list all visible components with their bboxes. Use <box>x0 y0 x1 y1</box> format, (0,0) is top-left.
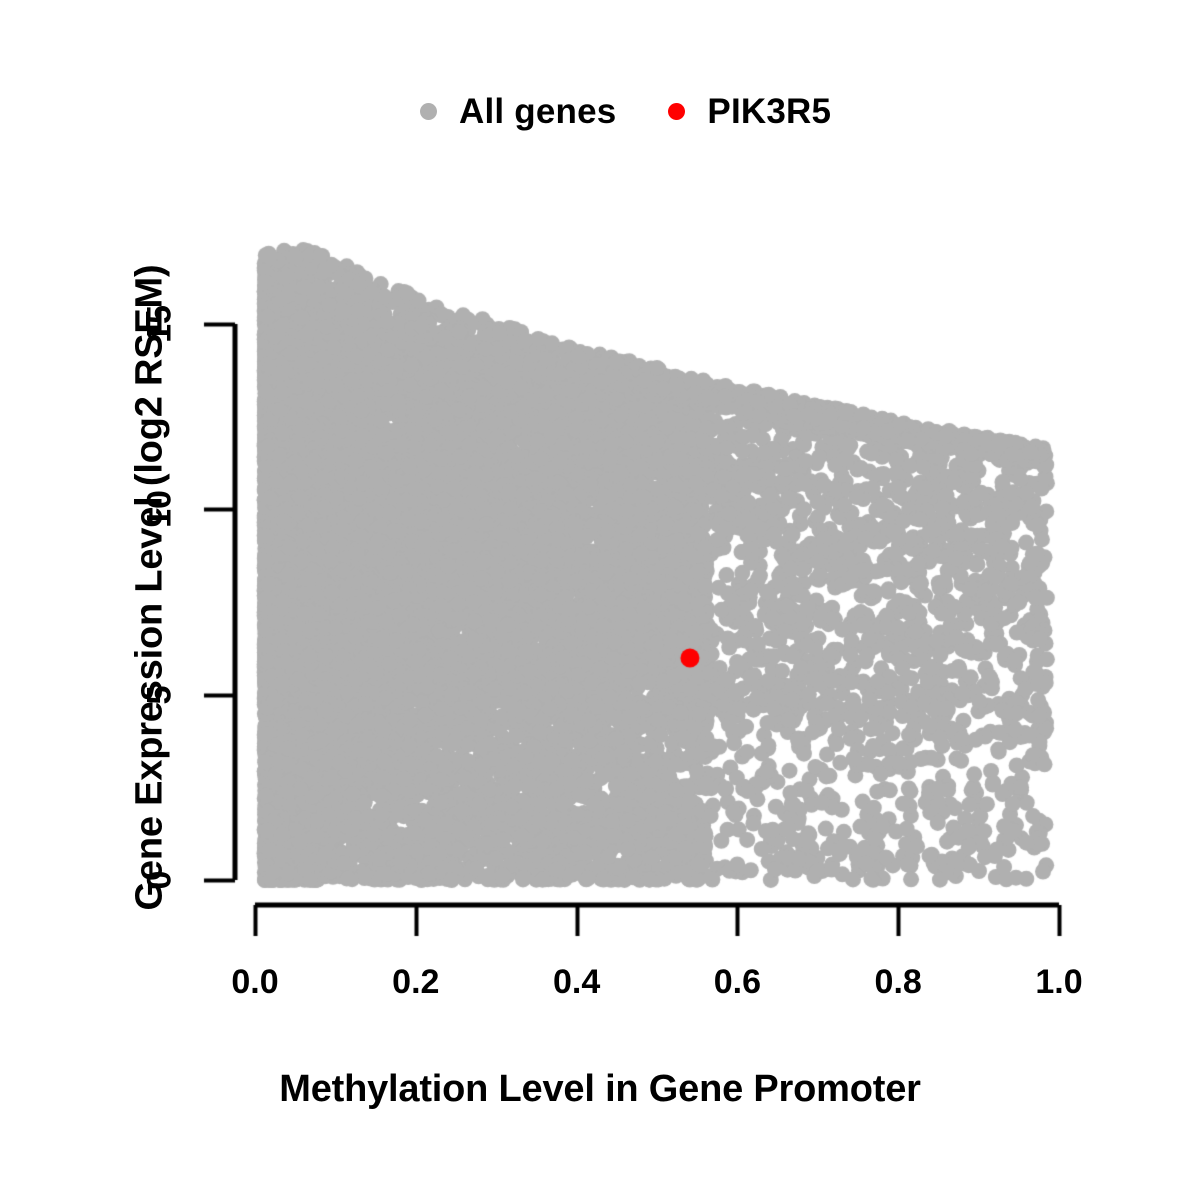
legend-marker-pik3r5-icon <box>668 103 685 120</box>
scatter-plot-canvas <box>0 0 1200 1200</box>
x-tick-label: 0.4 <box>553 963 600 1002</box>
x-tick-label: 0.2 <box>392 963 439 1002</box>
x-tick-label: 0.6 <box>714 963 761 1002</box>
legend-entry-all-genes: All genes <box>420 94 616 129</box>
legend-label-pik3r5: PIK3R5 <box>707 94 831 129</box>
y-tick-label: 0 <box>141 871 180 890</box>
x-axis-title: Methylation Level in Gene Promoter <box>0 1068 1200 1111</box>
scatter-plot-figure: All genes PIK3R5 Methylation Level in Ge… <box>0 0 1200 1200</box>
y-axis-title: Gene Expression Level (log2 RSEM) <box>129 138 172 1038</box>
x-tick-label: 1.0 <box>1035 963 1082 1002</box>
chart-legend: All genes PIK3R5 <box>420 82 940 140</box>
legend-entry-pik3r5: PIK3R5 <box>668 94 831 129</box>
x-tick-label: 0.8 <box>875 963 922 1002</box>
legend-label-all-genes: All genes <box>459 94 616 129</box>
x-tick-label: 0.0 <box>231 963 278 1002</box>
y-tick-label: 15 <box>141 305 180 343</box>
y-tick-label: 10 <box>141 490 180 528</box>
legend-marker-all-genes-icon <box>420 103 437 120</box>
y-tick-label: 5 <box>141 685 180 704</box>
